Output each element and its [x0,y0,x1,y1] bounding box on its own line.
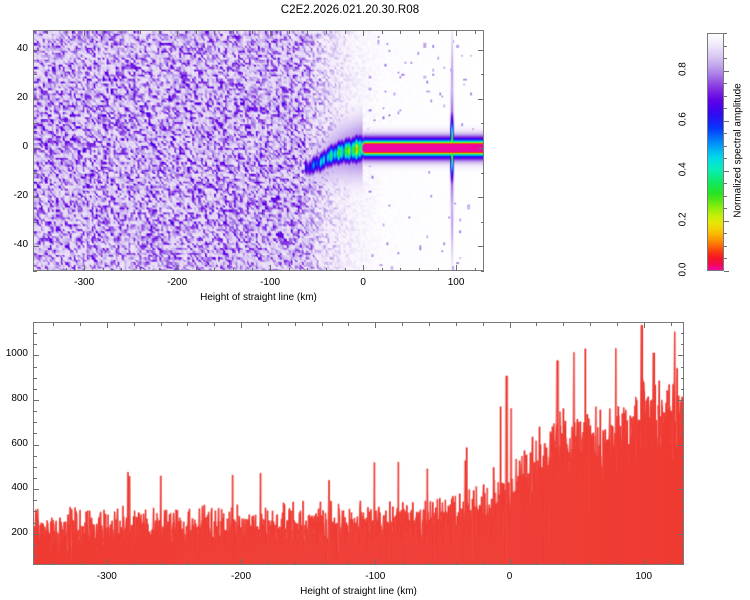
page-title: C2E2.2026.021.20.30.R08 [0,4,700,16]
colorbar-tick [724,183,727,184]
colorbar-tick-label: 0.2 [678,202,689,236]
spectrogram-tick [289,30,290,34]
spectrogram-tick [289,268,290,272]
spectrogram-tick [382,268,383,272]
colorbar-tick [724,121,729,122]
spectrogram-x-tick-label: -100 [240,277,300,288]
snr-tick [483,562,484,566]
snr-tick [33,367,37,368]
snr-tick [348,562,349,566]
spectrogram-tick [159,268,160,272]
snr-x-tick-label: -100 [345,571,405,582]
snr-tick [456,562,457,566]
spectrogram-x-tick-label: 0 [333,277,393,288]
spectrogram-tick [33,99,39,100]
colorbar[interactable] [707,33,724,271]
spectrogram-tick [177,30,178,36]
spectrogram-tick [33,123,37,124]
snr-tick [295,322,296,326]
spectrogram-panel[interactable] [33,30,484,271]
spectrogram-y-tick-label: -20 [0,190,28,201]
spectrogram-tick [345,30,346,34]
snr-tick [402,322,403,326]
snr-tick [33,378,37,379]
snr-tick [33,355,39,356]
spectrogram-tick [140,268,141,272]
colorbar-tick [724,108,727,109]
spectrogram-tick [33,148,39,149]
snr-y-tick-label: 400 [0,482,28,493]
snr-tick [33,500,37,501]
snr-tick [107,322,108,328]
spectrogram-tick [478,246,484,247]
snr-tick [33,511,37,512]
spectrogram-tick [33,197,39,198]
spectrogram-tick [475,268,476,272]
snr-tick [644,559,645,565]
snr-tick [678,534,684,535]
snr-tick [429,562,430,566]
spectrogram-tick [252,30,253,34]
snr-tick [33,411,37,412]
snr-tick [33,478,37,479]
spectrogram-tick [475,30,476,34]
snr-tick [80,562,81,566]
snr-tick [107,559,108,565]
snr-tick [33,467,37,468]
snr-tick [681,511,685,512]
spectrogram-tick [66,268,67,272]
snr-tick [161,562,162,566]
spectrogram-y-tick-label: -40 [0,239,28,250]
snr-tick [33,389,37,390]
spectrogram-tick [252,268,253,272]
colorbar-tick [724,96,727,97]
snr-tick [33,523,37,524]
snr-tick [678,445,684,446]
snr-tick [681,411,685,412]
spectrogram-tick [481,74,485,75]
snr-tick [375,322,376,328]
spectrogram-tick [214,268,215,272]
snr-tick [681,500,685,501]
spectrogram-tick [33,246,39,247]
spectrogram-tick [214,30,215,34]
snr-tick [80,322,81,326]
spectrogram-tick [47,268,48,272]
snr-y-tick-label: 800 [0,393,28,404]
spectrogram-tick [121,268,122,272]
spectrogram-tick [326,30,327,34]
snr-y-tick-label: 200 [0,527,28,538]
colorbar-tick [724,208,727,209]
colorbar-tick [724,58,727,59]
snr-tick [510,559,511,565]
snr-tick [295,562,296,566]
snr-tick [33,433,37,434]
snr-tick [681,422,685,423]
snr-y-tick-label: 1000 [0,348,28,359]
spectrogram-tick [478,99,484,100]
spectrogram-tick [419,30,420,34]
snr-tick [53,562,54,566]
spectrogram-image [34,31,483,270]
snr-tick [617,562,618,566]
spectrogram-y-tick-label: 40 [0,43,28,54]
spectrogram-tick [159,30,160,34]
snr-tick [563,562,564,566]
snr-tick [161,322,162,326]
spectrogram-tick [121,30,122,34]
spectrogram-tick [84,265,85,271]
spectrogram-tick [419,268,420,272]
snr-tick [33,489,39,490]
snr-tick [681,333,685,334]
spectrogram-tick [438,30,439,34]
spectrogram-tick [177,265,178,271]
snr-tick [617,322,618,326]
spectrogram-y-tick-label: 0 [0,141,28,152]
spectrogram-tick [481,222,485,223]
spectrogram-tick [481,173,485,174]
spectrogram-tick [400,30,401,34]
colorbar-tick [724,46,727,47]
colorbar-gradient [708,34,723,270]
spectrogram-x-tick-label: -200 [147,277,207,288]
spectrogram-x-tick-label: -300 [54,277,114,288]
snr-tick [33,456,37,457]
spectrogram-tick [66,30,67,34]
spectrogram-tick [47,30,48,34]
colorbar-tick [724,33,727,34]
snr-tick [681,389,685,390]
snr-panel[interactable] [33,322,684,565]
snr-tick [536,322,537,326]
snr-x-tick-label: 0 [480,571,540,582]
snr-tick [375,559,376,565]
snr-tick [644,322,645,328]
colorbar-tick [724,146,727,147]
snr-tick [671,322,672,326]
snr-tick [590,562,591,566]
spectrogram-tick [438,268,439,272]
spectrogram-tick [478,148,484,149]
snr-tick [33,333,37,334]
colorbar-label: Normalized spectral amplitude [733,32,744,270]
snr-tick [33,344,37,345]
snr-tick [33,545,37,546]
colorbar-tick [724,71,729,72]
snr-tick [456,322,457,326]
colorbar-tick-label: 0.0 [678,253,689,287]
snr-tick [241,559,242,565]
colorbar-tick [724,196,727,197]
spectrogram-tick [363,265,364,271]
snr-tick [563,322,564,326]
spectrogram-y-tick-label: 20 [0,92,28,103]
spectrogram-tick [84,30,85,36]
snr-tick [187,562,188,566]
snr-tick [429,322,430,326]
snr-tick [681,433,685,434]
spectrogram-tick [33,74,37,75]
snr-tick [671,562,672,566]
colorbar-tick [724,83,727,84]
spectrogram-tick [196,268,197,272]
snr-tick [590,322,591,326]
snr-tick [681,344,685,345]
snr-tick [33,422,37,423]
snr-x-axis-label: Height of straight line (km) [33,586,684,597]
spectrogram-tick [382,30,383,34]
spectrogram-tick [103,268,104,272]
spectrogram-tick [233,30,234,34]
snr-tick [268,562,269,566]
spectrogram-tick [326,268,327,272]
colorbar-tick [724,158,727,159]
snr-trace [34,323,683,564]
snr-tick [53,322,54,326]
snr-tick [681,523,685,524]
snr-tick [678,400,684,401]
spectrogram-tick [270,30,271,36]
colorbar-tick-label: 0.6 [678,102,689,136]
snr-tick [33,445,39,446]
snr-tick [241,322,242,328]
colorbar-tick-label: 0.4 [678,152,689,186]
snr-tick [681,467,685,468]
colorbar-tick [724,221,729,222]
snr-tick [536,562,537,566]
snr-tick [33,322,37,323]
spectrogram-x-tick-label: 100 [426,277,486,288]
spectrogram-tick [478,197,484,198]
spectrogram-tick [140,30,141,34]
spectrogram-tick [481,123,485,124]
snr-tick [214,322,215,326]
spectrogram-x-axis-label: Height of straight line (km) [33,292,484,303]
spectrogram-tick [307,268,308,272]
spectrogram-tick [456,265,457,271]
spectrogram-tick [478,50,484,51]
snr-tick [681,378,685,379]
colorbar-tick [724,171,729,172]
snr-tick [681,545,685,546]
snr-tick [681,556,685,557]
spectrogram-tick [33,50,39,51]
spectrogram-tick [33,222,37,223]
snr-tick [33,534,39,535]
colorbar-tick [724,271,729,272]
spectrogram-tick [481,271,485,272]
snr-tick [681,478,685,479]
spectrogram-tick [345,268,346,272]
snr-tick [678,355,684,356]
snr-tick [322,562,323,566]
spectrogram-tick [233,268,234,272]
snr-y-tick-label: 600 [0,438,28,449]
snr-tick [402,562,403,566]
spectrogram-tick [363,30,364,36]
snr-tick [681,322,685,323]
snr-tick [681,367,685,368]
colorbar-tick [724,233,727,234]
snr-tick [322,322,323,326]
colorbar-tick [724,258,727,259]
colorbar-tick [724,133,727,134]
snr-x-tick-label: -300 [77,571,137,582]
snr-tick [214,562,215,566]
snr-tick [681,456,685,457]
snr-tick [33,400,39,401]
spectrogram-tick [270,265,271,271]
snr-tick [348,322,349,326]
snr-tick [678,489,684,490]
colorbar-tick [724,246,727,247]
snr-tick [187,322,188,326]
colorbar-tick-label: 0.8 [678,52,689,86]
snr-x-tick-label: -200 [211,571,271,582]
snr-tick [268,322,269,326]
spectrogram-tick [196,30,197,34]
spectrogram-tick [33,271,37,272]
snr-tick [510,322,511,328]
spectrogram-tick [33,173,37,174]
spectrogram-tick [103,30,104,34]
snr-tick [134,562,135,566]
snr-tick [134,322,135,326]
snr-x-tick-label: 100 [614,571,674,582]
snr-tick [483,322,484,326]
spectrogram-tick [456,30,457,36]
spectrogram-tick [400,268,401,272]
figure-root: C2E2.2026.021.20.30.R08 -300-200-1000100… [0,0,750,600]
snr-tick [33,556,37,557]
spectrogram-tick [307,30,308,34]
